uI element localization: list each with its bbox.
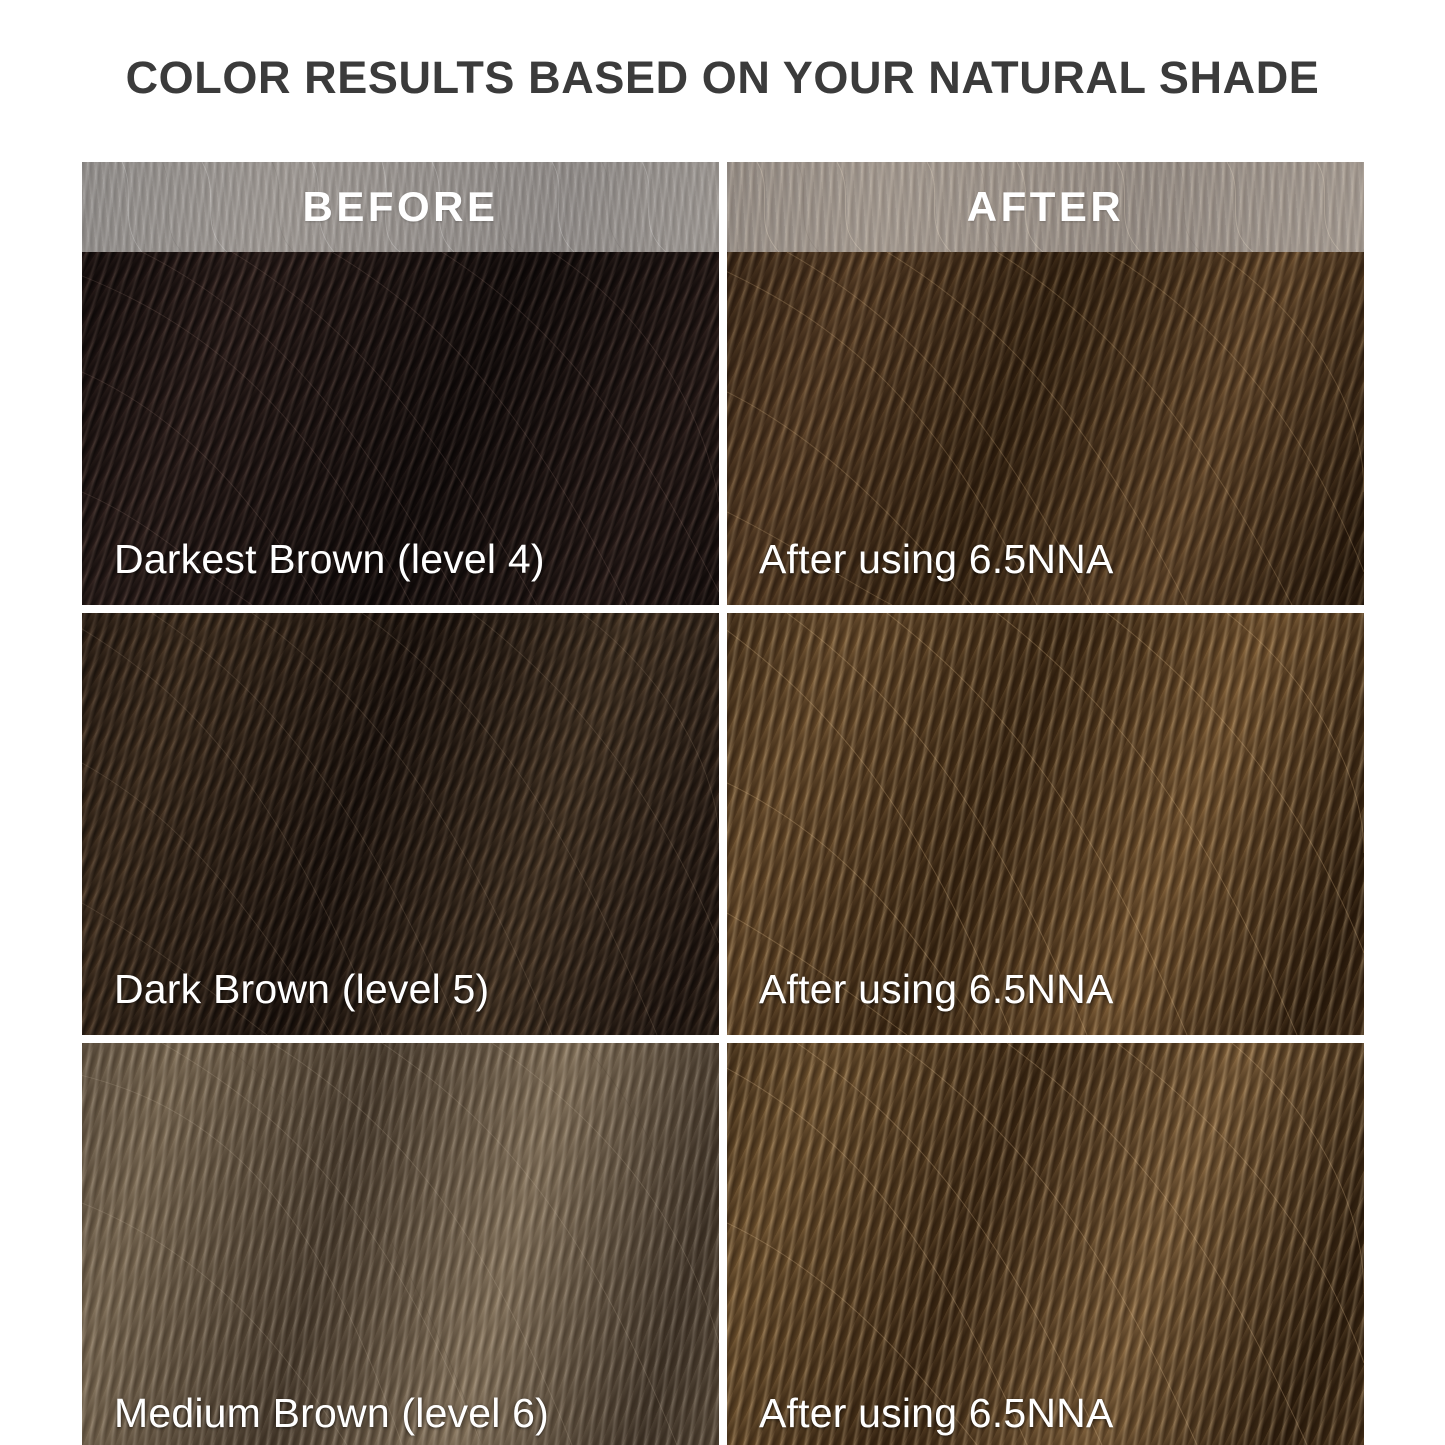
page-title: COLOR RESULTS BASED ON YOUR NATURAL SHAD… [0, 52, 1445, 104]
column-header-label-after: AFTER [727, 162, 1364, 252]
swatch-label-before-1: Darkest Brown (level 4) [114, 536, 545, 583]
swatch-after-row-2: After using 6.5NNA [727, 613, 1364, 1035]
column-header-after: AFTER [727, 162, 1364, 252]
swatch-label-after-1: After using 6.5NNA [759, 536, 1114, 583]
hair-texture-after-3 [727, 1043, 1364, 1445]
column-before: BEFORE Darkest Brown (le [82, 162, 719, 1445]
swatch-label-before-2: Dark Brown (level 5) [114, 966, 489, 1013]
column-header-label-before: BEFORE [82, 162, 719, 252]
swatch-label-after-3: After using 6.5NNA [759, 1390, 1114, 1437]
swatch-after-row-1: After using 6.5NNA [727, 252, 1364, 605]
swatch-label-after-2: After using 6.5NNA [759, 966, 1114, 1013]
swatch-label-before-3: Medium Brown (level 6) [114, 1390, 549, 1437]
swatch-before-row-2: Dark Brown (level 5) [82, 613, 719, 1035]
swatch-before-row-1: Darkest Brown (level 4) [82, 252, 719, 605]
before-after-comparison-grid: BEFORE Darkest Brown (le [82, 162, 1364, 1445]
infographic-page: COLOR RESULTS BASED ON YOUR NATURAL SHAD… [0, 0, 1445, 1445]
hair-texture-before-3 [82, 1043, 719, 1445]
swatch-after-row-3: After using 6.5NNA [727, 1043, 1364, 1445]
column-after: AFTER After using 6.5NNA [727, 162, 1364, 1445]
column-header-before: BEFORE [82, 162, 719, 252]
swatch-before-row-3: Medium Brown (level 6) [82, 1043, 719, 1445]
